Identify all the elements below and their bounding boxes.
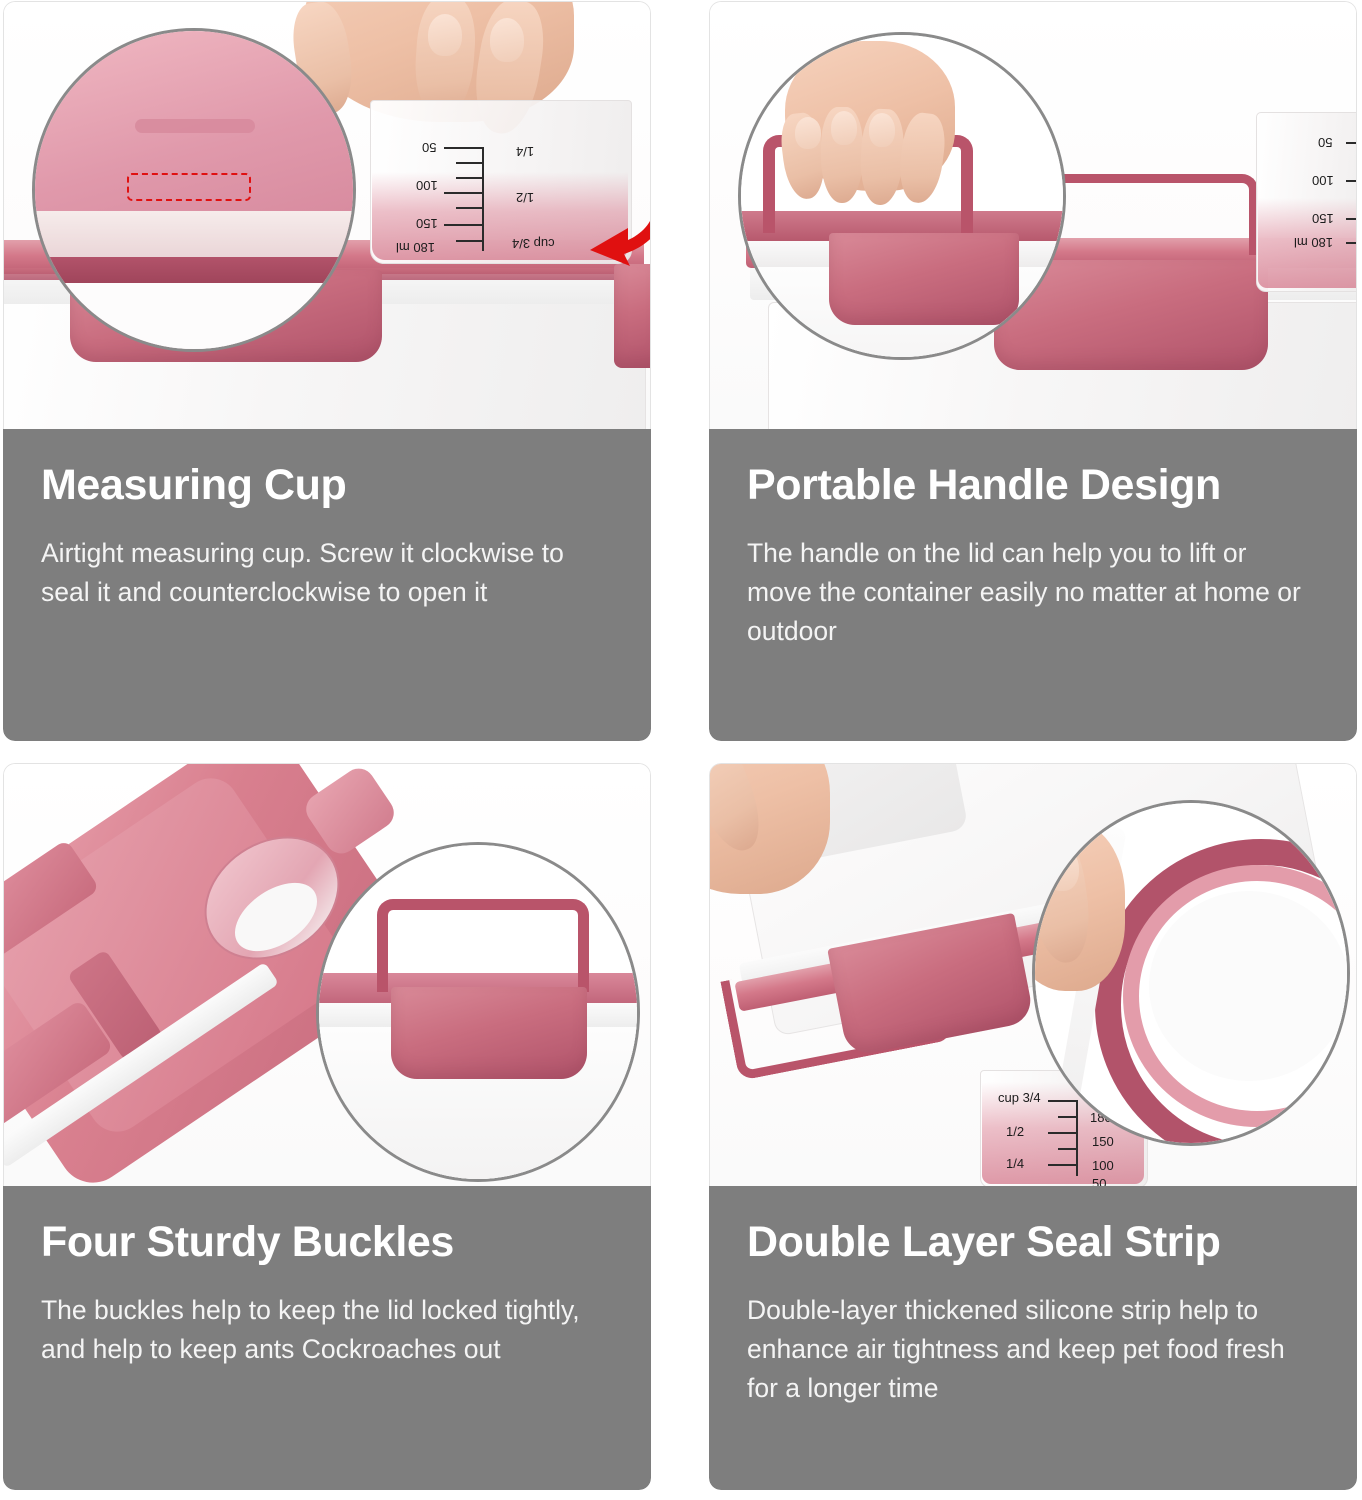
cup-mark-cup: 1/2 <box>1006 1124 1024 1139</box>
card-description: Airtight measuring cup. Screw it clockwi… <box>41 534 611 612</box>
card-title: Portable Handle Design <box>747 463 1317 508</box>
cup-mark-cup: 1/2 <box>516 190 534 205</box>
cup-mark-ml: 50 <box>1318 135 1332 150</box>
fingernail-1 <box>795 117 821 149</box>
cup-tick <box>1346 180 1357 182</box>
card-title: Four Sturdy Buckles <box>41 1220 611 1265</box>
card-title: Measuring Cup <box>41 463 611 508</box>
product-photo-portable-handle: 50 100 150 180 ml <box>709 1 1357 429</box>
highlight-dashed-outline <box>127 173 251 201</box>
product-photo-double-layer-seal-strip: cup 3/4 1/2 1/4 180 ml 150 100 50 <box>709 763 1357 1186</box>
cup-mark-ml: 150 <box>416 216 438 231</box>
cup-mark-cup: 1/4 <box>516 144 534 159</box>
buckle-zoomed <box>829 233 1019 325</box>
carry-handle <box>1040 174 1258 255</box>
magnifier-inset <box>1032 800 1350 1146</box>
buckle-right <box>614 264 651 368</box>
caption-portable-handle: Portable Handle Design The handle on the… <box>709 429 1357 741</box>
cup-mark-ml: 100 <box>1312 173 1334 188</box>
cup-tick <box>1058 1148 1078 1150</box>
cup-tick <box>1346 142 1357 144</box>
card-description: Double-layer thickened silicone strip he… <box>747 1291 1317 1408</box>
cup-tick <box>444 147 484 149</box>
caption-four-sturdy-buckles: Four Sturdy Buckles The buckles help to … <box>3 1186 651 1490</box>
magnifier-inset <box>316 842 640 1182</box>
feature-grid: 50 100 150 180 ml 1/4 1/2 cup 3/4 Measu <box>0 0 1362 1500</box>
cup-tick-vertical <box>482 147 484 251</box>
fingernail-1 <box>428 14 462 56</box>
cup-mark-ml: 150 <box>1312 211 1334 226</box>
product-photo-four-sturdy-buckles <box>3 763 651 1186</box>
feature-card-four-sturdy-buckles: Four Sturdy Buckles The buckles help to … <box>3 763 651 1490</box>
cup-mark-ml: 180 ml <box>396 240 435 255</box>
cup-tick <box>456 177 484 179</box>
fingernail-2 <box>490 18 524 62</box>
buckle-zoomed <box>391 987 587 1079</box>
cup-tick <box>1048 1164 1078 1166</box>
magnifier-inset <box>738 32 1066 360</box>
cup-mark-ml: 100 <box>1092 1158 1114 1173</box>
cup-mark-cup: 1/4 <box>1006 1156 1024 1171</box>
magnifier-inset <box>32 28 356 352</box>
caption-measuring-cup: Measuring Cup Airtight measuring cup. Sc… <box>3 429 651 741</box>
thumbnail <box>1045 847 1079 891</box>
card-description: The handle on the lid can help you to li… <box>747 534 1317 651</box>
cup-mark-ml: 100 <box>416 178 438 193</box>
cup-tick <box>444 192 484 194</box>
cup-tick <box>1346 242 1357 244</box>
feature-card-portable-handle: 50 100 150 180 ml <box>709 1 1357 741</box>
carry-handle-zoomed <box>377 899 589 992</box>
cup-mark-ml: 180 ml <box>1294 235 1333 250</box>
feature-card-measuring-cup: 50 100 150 180 ml 1/4 1/2 cup 3/4 Measu <box>3 1 651 741</box>
feature-card-double-layer-seal-strip: cup 3/4 1/2 1/4 180 ml 150 100 50 Double… <box>709 763 1357 1490</box>
card-title: Double Layer Seal Strip <box>747 1220 1317 1265</box>
cup-tick <box>444 224 484 226</box>
cup-mark-cup: cup 3/4 <box>512 236 555 251</box>
rotation-arrow-icon <box>580 180 651 272</box>
cup-tick <box>456 162 484 164</box>
fingernail-3 <box>869 113 895 147</box>
caption-double-layer-seal-strip: Double Layer Seal Strip Double-layer thi… <box>709 1186 1357 1490</box>
cup-mark-ml: 50 <box>422 140 436 155</box>
cup-tick <box>456 207 484 209</box>
cup-mark-ml: 50 <box>1092 1176 1106 1186</box>
card-description: The buckles help to keep the lid locked … <box>41 1291 611 1369</box>
cup-tick <box>1346 218 1357 220</box>
fingernail-2 <box>831 111 857 145</box>
cup-tick <box>456 240 484 242</box>
product-photo-measuring-cup: 50 100 150 180 ml 1/4 1/2 cup 3/4 <box>3 1 651 429</box>
